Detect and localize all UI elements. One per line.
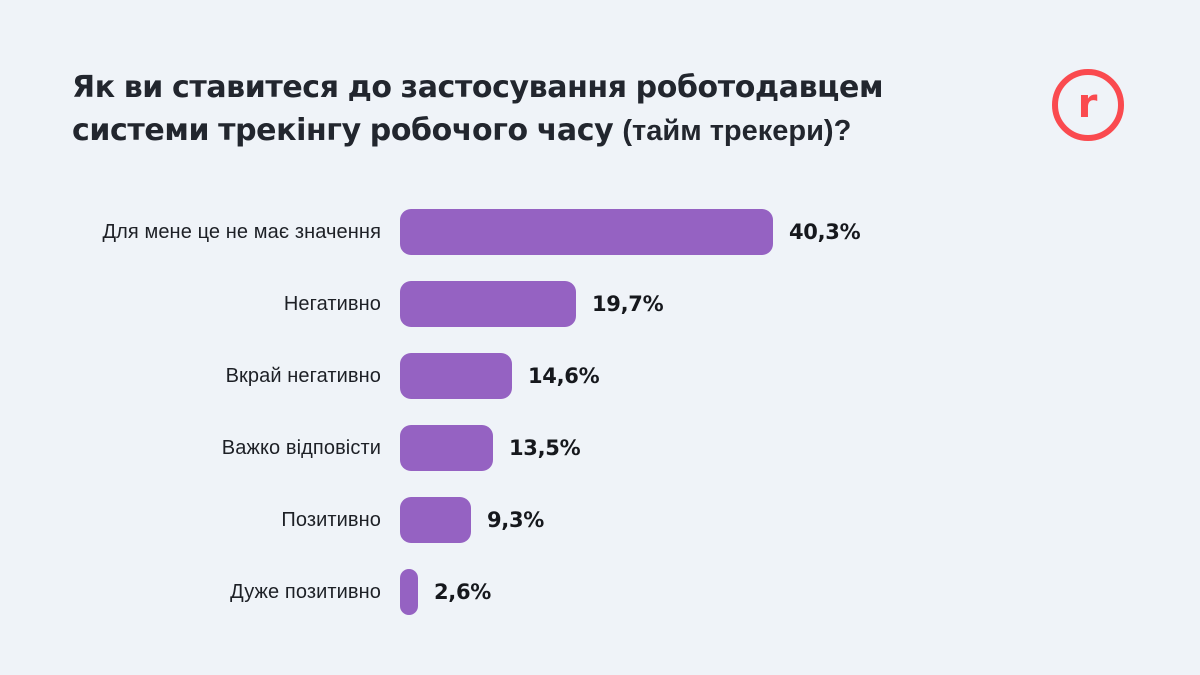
page-title: Як ви ставитеся до застосування роботода… — [72, 66, 987, 153]
bar-value-label: 9,3% — [487, 508, 544, 532]
bar-category-label: Вкрай негативно — [0, 365, 400, 388]
bar-track: 2,6% — [400, 569, 1200, 615]
bar-value-label: 14,6% — [528, 364, 599, 388]
bar-category-label: Дуже позитивно — [0, 581, 400, 604]
bar-category-label: Для мене це не має значення — [0, 221, 400, 244]
bar-track: 13,5% — [400, 425, 1200, 471]
bar-category-label: Позитивно — [0, 509, 400, 532]
bar-track: 19,7% — [400, 281, 1200, 327]
bar — [400, 569, 418, 615]
logo-letter-r: r — [1052, 69, 1124, 141]
infographic-canvas: Як ви ставитеся до застосування роботода… — [0, 0, 1200, 675]
bar-row: Вкрай негативно14,6% — [0, 340, 1200, 412]
bar-track: 9,3% — [400, 497, 1200, 543]
bar-chart: Для мене це не має значення40,3%Негативн… — [0, 196, 1200, 628]
title-sub-text: (тайм трекери)? — [622, 115, 851, 147]
header: Як ви ставитеся до застосування роботода… — [72, 66, 1022, 153]
bar — [400, 209, 773, 255]
bar-category-label: Негативно — [0, 293, 400, 316]
bar — [400, 353, 512, 399]
brand-logo: r — [1052, 69, 1124, 141]
bar — [400, 425, 493, 471]
bar-row: Для мене це не має значення40,3% — [0, 196, 1200, 268]
bar — [400, 281, 576, 327]
bar-track: 40,3% — [400, 209, 1200, 255]
bar — [400, 497, 471, 543]
bar-row: Важко відповісти13,5% — [0, 412, 1200, 484]
bar-value-label: 40,3% — [789, 220, 860, 244]
bar-row: Дуже позитивно2,6% — [0, 556, 1200, 628]
bar-row: Позитивно9,3% — [0, 484, 1200, 556]
bar-category-label: Важко відповісти — [0, 437, 400, 460]
bar-value-label: 19,7% — [592, 292, 663, 316]
bar-row: Негативно19,7% — [0, 268, 1200, 340]
bar-track: 14,6% — [400, 353, 1200, 399]
bar-value-label: 2,6% — [434, 580, 491, 604]
bar-value-label: 13,5% — [509, 436, 580, 460]
